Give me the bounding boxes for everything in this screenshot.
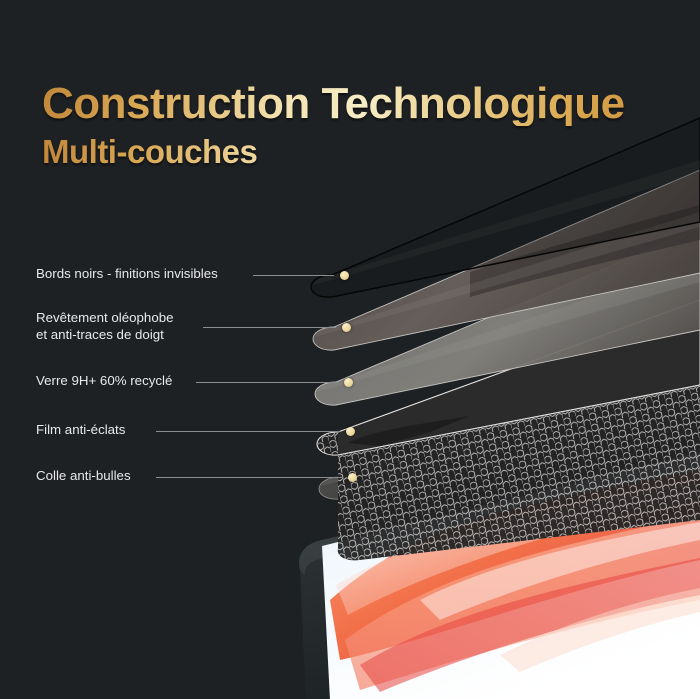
page-title: Construction Technologique <box>42 82 682 126</box>
callout-label-oleophobic-coating: Revêtement oléophobe et anti-traces de d… <box>36 310 174 343</box>
callout-label-anti-bubble-glue: Colle anti-bulles <box>36 468 131 485</box>
callout-black-edges: Bords noirs - finitions invisibles <box>36 266 218 283</box>
callout-label-recycled-glass: Verre 9H+ 60% recyclé <box>36 373 172 390</box>
callout-dot-anti-bubble-glue <box>348 473 357 482</box>
leader-lines <box>156 276 342 478</box>
callout-recycled-glass: Verre 9H+ 60% recyclé <box>36 373 172 390</box>
callout-dot-black-edges <box>340 271 349 280</box>
promo-infographic: Construction Technologique Multi-couches… <box>0 0 700 699</box>
callout-label-black-edges: Bords noirs - finitions invisibles <box>36 266 218 283</box>
callout-dot-oleophobic-coating <box>342 323 351 332</box>
page-heading: Construction Technologique Multi-couches <box>42 82 682 168</box>
callout-dot-recycled-glass <box>344 378 353 387</box>
callout-anti-bubble-glue: Colle anti-bulles <box>36 468 131 485</box>
page-subtitle: Multi-couches <box>42 135 682 168</box>
callout-label-anti-shatter-film: Film anti-éclats <box>36 422 125 439</box>
callout-oleophobic-coating: Revêtement oléophobe et anti-traces de d… <box>36 310 174 343</box>
callout-anti-shatter-film: Film anti-éclats <box>36 422 125 439</box>
callout-dot-anti-shatter-film <box>346 427 355 436</box>
